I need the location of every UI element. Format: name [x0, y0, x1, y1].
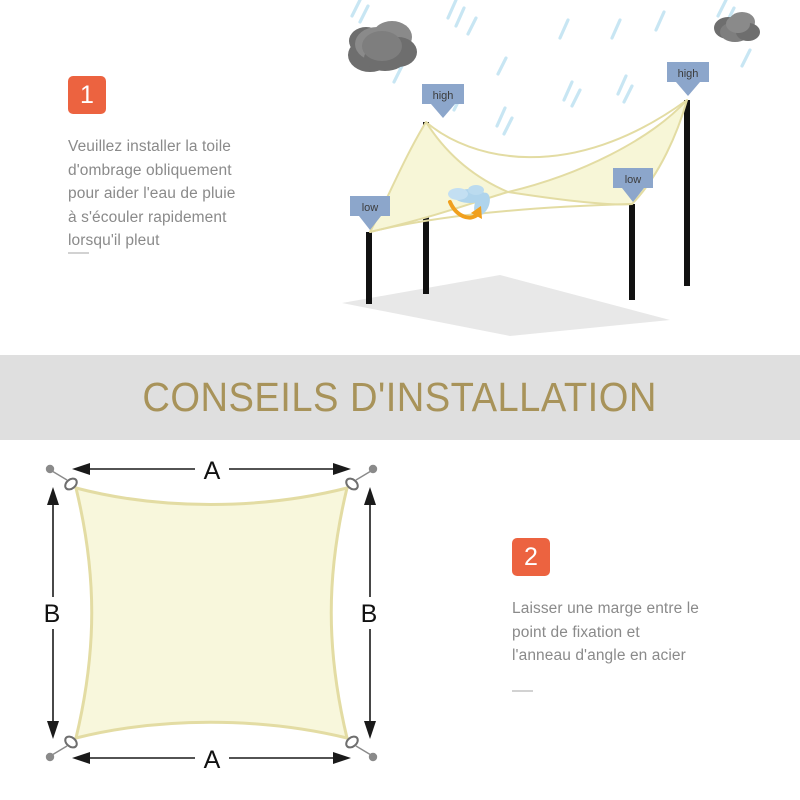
dimension-a-top-label: A	[204, 457, 221, 485]
pole-far-right	[684, 100, 690, 286]
dimension-b-left-label: B	[44, 600, 61, 628]
cloud-right-icon	[714, 12, 760, 42]
anchor-dot-top-right	[369, 465, 377, 473]
pole-far-left	[366, 232, 372, 304]
label-high-right: high	[667, 62, 709, 96]
pole-mid-right	[629, 204, 635, 300]
step-1-description: Veuillez installer la toile d'ombrage ob…	[68, 135, 283, 253]
dimension-a-bottom-arrow-left	[72, 752, 90, 764]
ground-shadow	[342, 275, 670, 336]
label-high-left: high	[422, 84, 464, 118]
dimension-b-left-arrow-bottom	[47, 721, 59, 739]
dimension-a-bottom-label: A	[204, 746, 221, 774]
banner-title: CONSEILS D'INSTALLATION	[143, 374, 657, 421]
shade-sail-rain-svg: high high low low	[330, 0, 800, 345]
shade-sail-fabric	[370, 100, 687, 232]
label-high-right-text: high	[678, 68, 699, 80]
dimension-a-top-arrow-right	[333, 463, 351, 475]
step-2-divider	[512, 690, 533, 692]
sail-dimensions-svg: A A B B	[20, 455, 430, 785]
dimension-b-left-arrow-top	[47, 487, 59, 505]
section-banner: CONSEILS D'INSTALLATION	[0, 355, 800, 440]
cloud-left-icon	[348, 21, 417, 72]
dimension-b-right-label: B	[361, 600, 378, 628]
bottom-illustration-container: A A B B	[20, 455, 430, 785]
step-2-description: Laisser une marge entre le point de fixa…	[512, 597, 752, 668]
label-low-left-text: low	[362, 202, 379, 214]
page-root: 1 Veuillez installer la toile d'ombrage …	[0, 0, 800, 800]
dimension-a-bottom-arrow-right	[333, 752, 351, 764]
label-low-right-text: low	[625, 174, 642, 186]
anchor-dot-bottom-right	[369, 753, 377, 761]
anchor-dot-bottom-left	[46, 753, 54, 761]
dimension-a-top-arrow-left	[72, 463, 90, 475]
step-2-number-badge: 2	[512, 538, 550, 576]
dimension-b-right-arrow-bottom	[364, 721, 376, 739]
label-high-left-text: high	[433, 90, 454, 102]
anchor-dot-top-left	[46, 465, 54, 473]
top-illustration-container: high high low low	[330, 0, 800, 345]
step-1-number-badge: 1	[68, 76, 106, 114]
sail-shape	[76, 488, 347, 738]
dimension-b-right-arrow-top	[364, 487, 376, 505]
step-1-divider	[68, 252, 89, 254]
